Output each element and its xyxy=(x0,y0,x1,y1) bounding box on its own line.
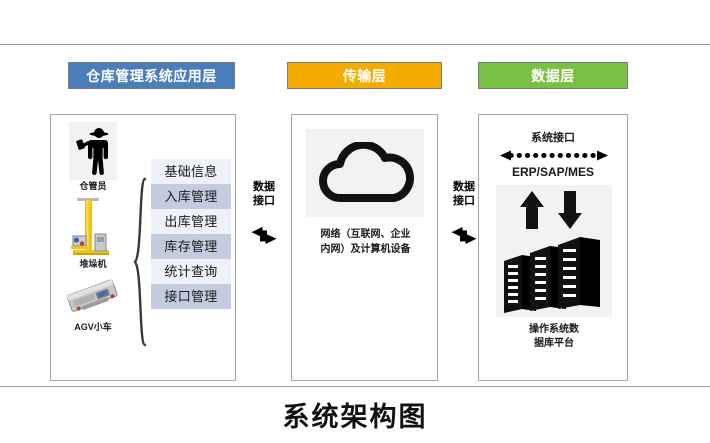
menu-item-basic-info[interactable]: 基础信息 xyxy=(151,159,231,184)
menu-item-statistics[interactable]: 统计查询 xyxy=(151,259,231,284)
layer-header-data: 数据层 xyxy=(478,62,628,89)
application-layer-panel: 仓管员 堆垛机 xyxy=(50,114,236,381)
enterprise-systems-label: ERP/SAP/MES xyxy=(479,165,627,179)
device-stacker-crane-label: 堆垛机 xyxy=(79,260,106,269)
up-down-arrows-icon xyxy=(520,191,582,229)
server-rack-icon xyxy=(496,185,612,317)
system-interface-title: 系统接口 xyxy=(479,129,627,145)
layer-header-data-label: 数据层 xyxy=(531,66,575,86)
page-title: 系统架构图 xyxy=(0,395,710,434)
device-stacker-crane: 堆垛机 xyxy=(67,196,119,269)
data-platform-caption: 操作系统数 据库平台 xyxy=(485,323,623,351)
layer-header-application-label: 仓库管理系统应用层 xyxy=(86,66,217,86)
transport-caption-line1: 网络（互联网、企业 xyxy=(300,227,431,242)
data-platform-caption-line2: 据库平台 xyxy=(485,337,623,351)
cloud-icon-container xyxy=(306,129,424,217)
device-agv-cart-label: AGV小车 xyxy=(74,323,112,332)
bottom-divider xyxy=(0,386,710,387)
menu-item-outbound[interactable]: 出库管理 xyxy=(151,209,231,234)
connector-left: 数据 接口 xyxy=(240,180,288,245)
layer-header-application: 仓库管理系统应用层 xyxy=(68,62,235,89)
layer-header-transport: 传输层 xyxy=(287,62,442,89)
device-warehouse-operator-label: 仓管员 xyxy=(79,182,106,191)
device-column: 仓管员 堆垛机 xyxy=(57,119,129,377)
transport-caption: 网络（互联网、企业 内网）及计算机设备 xyxy=(300,227,431,257)
server-rack-container xyxy=(496,185,612,317)
menu-item-interface-admin[interactable]: 接口管理 xyxy=(151,284,231,309)
bidirectional-arrow-icon xyxy=(450,226,478,245)
connector-left-label-line2: 接口 xyxy=(253,194,275,208)
curly-brace-icon xyxy=(133,177,149,347)
connector-right-label-line2: 接口 xyxy=(453,194,475,208)
bidirectional-arrow-icon xyxy=(250,226,278,245)
connector-right-label-line1: 数据 xyxy=(453,180,475,194)
warehouse-operator-icon xyxy=(69,122,117,180)
connector-left-label-line1: 数据 xyxy=(253,180,275,194)
data-platform-caption-line1: 操作系统数 xyxy=(485,323,623,337)
dotted-double-arrow-icon xyxy=(500,149,608,162)
device-agv-cart: AGV小车 xyxy=(64,275,122,332)
menu-item-inventory[interactable]: 库存管理 xyxy=(151,234,231,259)
stacker-crane-icon xyxy=(67,196,119,258)
layer-header-transport-label: 传输层 xyxy=(343,66,387,86)
agv-cart-icon xyxy=(64,275,122,321)
transport-layer-panel: 网络（互联网、企业 内网）及计算机设备 xyxy=(291,114,438,381)
device-warehouse-operator: 仓管员 xyxy=(69,122,117,191)
data-layer-panel: 系统接口 ERP/SAP/MES xyxy=(478,114,628,381)
top-divider xyxy=(0,44,710,45)
application-menu-list: 基础信息 入库管理 出库管理 库存管理 统计查询 接口管理 xyxy=(151,159,231,309)
cloud-icon xyxy=(315,142,415,204)
transport-caption-line2: 内网）及计算机设备 xyxy=(300,242,431,257)
menu-item-inbound[interactable]: 入库管理 xyxy=(151,184,231,209)
